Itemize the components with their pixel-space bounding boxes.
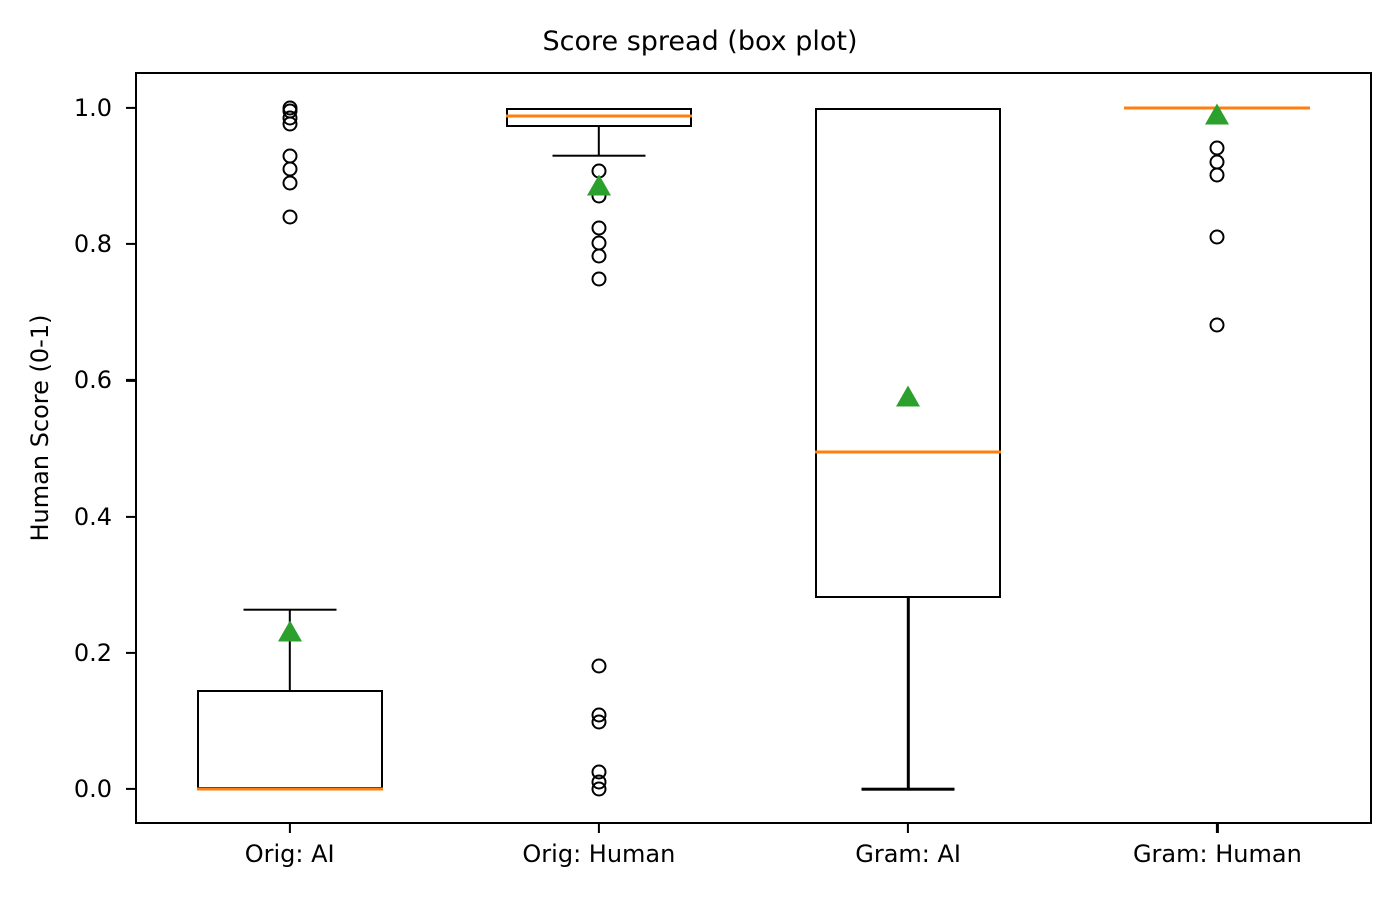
- y-axis-tick-label: 0.2: [0, 639, 112, 667]
- outlier-point: [1210, 318, 1225, 333]
- x-axis-tick-mark: [598, 824, 600, 833]
- outlier-point: [1210, 230, 1225, 245]
- y-axis-tick-mark: [126, 379, 135, 381]
- outlier-point: [282, 175, 297, 190]
- upper-whisker-cap: [243, 609, 336, 612]
- x-axis-tick-mark: [289, 824, 291, 833]
- y-axis-tick-mark: [126, 243, 135, 245]
- outlier-point: [591, 782, 606, 797]
- box-plot-figure: Score spread (box plot) Human Score (0-1…: [0, 0, 1400, 900]
- outlier-point: [591, 248, 606, 263]
- chart-title: Score spread (box plot): [0, 26, 1400, 57]
- outlier-point: [591, 658, 606, 673]
- lower-whisker-cap: [862, 788, 955, 791]
- outlier-point: [282, 209, 297, 224]
- x-axis-tick-label: Orig: AI: [140, 840, 440, 868]
- outlier-point: [591, 220, 606, 235]
- y-axis-tick-mark: [126, 107, 135, 109]
- box-iqr-rect: [197, 690, 383, 789]
- median-line: [197, 788, 383, 791]
- outlier-point: [282, 116, 297, 131]
- y-axis-tick-label: 1.0: [0, 94, 112, 122]
- outlier-point: [591, 714, 606, 729]
- outlier-point: [1210, 168, 1225, 183]
- y-axis-label: Human Score (0-1): [26, 78, 54, 778]
- mean-marker-triangle: [587, 174, 611, 195]
- mean-marker-triangle: [1205, 104, 1229, 125]
- y-axis-tick-label: 0.8: [0, 230, 112, 258]
- lower-whisker-line: [907, 598, 909, 789]
- box-iqr-rect: [815, 108, 1001, 598]
- y-axis-tick-mark: [126, 788, 135, 790]
- x-axis-tick-label: Orig: Human: [449, 840, 749, 868]
- y-axis-tick-label: 0.0: [0, 775, 112, 803]
- outlier-point: [591, 271, 606, 286]
- x-axis-tick-mark: [1216, 824, 1218, 833]
- median-line: [506, 115, 692, 118]
- x-axis-tick-label: Gram: Human: [1067, 840, 1367, 868]
- lower-whisker-cap: [552, 154, 645, 157]
- y-axis-tick-mark: [126, 516, 135, 518]
- x-axis-tick-mark: [907, 824, 909, 833]
- median-line: [815, 450, 1001, 453]
- mean-marker-triangle: [896, 385, 920, 406]
- x-axis-tick-label: Gram: AI: [758, 840, 1058, 868]
- y-axis-tick-label: 0.4: [0, 503, 112, 531]
- y-axis-tick-mark: [126, 652, 135, 654]
- lower-whisker-line: [598, 127, 600, 156]
- y-axis-tick-label: 0.6: [0, 366, 112, 394]
- mean-marker-triangle: [278, 620, 302, 641]
